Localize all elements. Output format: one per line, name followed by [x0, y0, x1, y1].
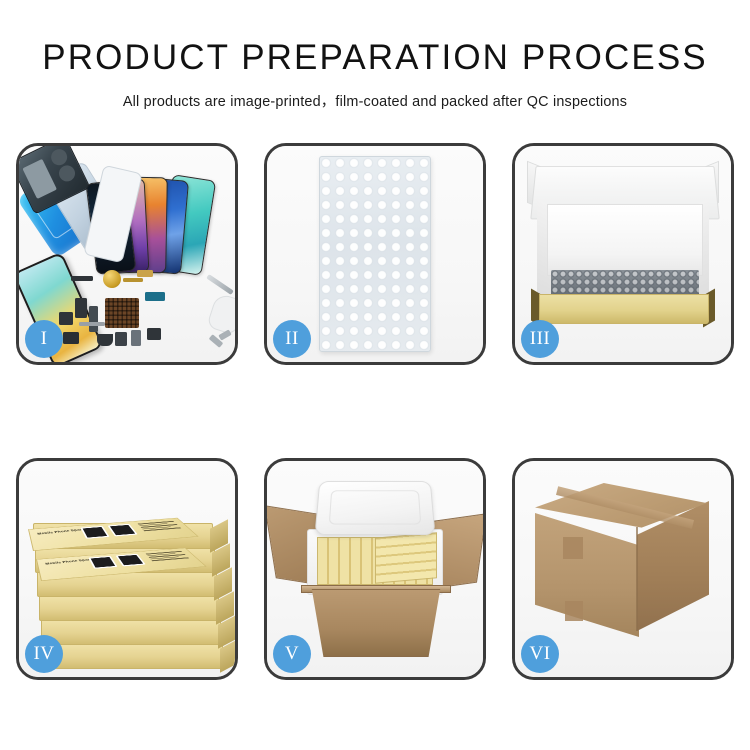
step-badge-4: IV: [25, 635, 63, 673]
part-blue-module: [145, 292, 165, 301]
part-camera-module: [115, 332, 127, 346]
yellow-boxes-inside-b: [375, 532, 437, 583]
part-antenna-cable: [79, 322, 105, 326]
part-vertical-strip: [89, 306, 98, 332]
step-badge-2: II: [273, 320, 311, 358]
process-step-panel-4: Mobile Phone Spare Parts Mobile Phone Sp…: [16, 458, 238, 680]
stacked-box-6: [43, 643, 223, 669]
speaker-component: [103, 270, 121, 288]
box-feature-lines-front: [146, 551, 190, 562]
part-gold-connector: [137, 270, 153, 277]
header: PRODUCT PREPARATION PROCESS All products…: [0, 0, 750, 111]
process-step-panel-6: VI: [512, 458, 734, 680]
box-feature-lines-back: [138, 521, 182, 532]
box-product-photo-b: [116, 554, 146, 567]
technician-hand: [206, 292, 235, 336]
part-bracket: [147, 328, 161, 340]
process-step-grid: I II III: [16, 143, 734, 680]
step-badge-1: I: [25, 320, 63, 358]
step-badge-5: V: [273, 635, 311, 673]
step-badge-6: VI: [521, 635, 559, 673]
carton-corner-seam: [636, 527, 638, 631]
part-speaker-box: [63, 332, 79, 344]
chip-array-component: [105, 298, 139, 328]
process-step-panel-5: V: [264, 458, 486, 680]
bubble-wrap-bag: [319, 156, 431, 352]
part-square-chip: [59, 312, 73, 325]
part-small-block: [75, 298, 87, 318]
part-taptic-engine: [97, 334, 113, 346]
box-product-photo-a: [88, 556, 117, 569]
foam-cooler-lid: [315, 481, 436, 535]
carton-tape-patch-upper: [563, 537, 583, 559]
part-battery-cell: [131, 330, 141, 346]
white-foam-sheet: [547, 204, 703, 276]
carton-front-wall: [303, 589, 449, 657]
carton-tape-patch-lower: [565, 601, 583, 621]
process-step-panel-1: I: [16, 143, 238, 365]
box-front-wall: [539, 294, 709, 324]
page-title: PRODUCT PREPARATION PROCESS: [0, 38, 750, 78]
part-gold-flex: [123, 278, 143, 282]
process-step-panel-3: III: [512, 143, 734, 365]
box-product-photo-d: [108, 524, 138, 537]
stacked-box-4: [39, 595, 219, 621]
tweezer-tool: [206, 274, 234, 295]
step-badge-3: III: [521, 320, 559, 358]
sealed-carton-left-face: [535, 513, 639, 637]
box-product-photo-c: [80, 526, 109, 539]
process-step-panel-2: II: [264, 143, 486, 365]
stacked-box-5: [41, 619, 221, 645]
page-subtitle: All products are image-printed，film-coat…: [0, 90, 750, 111]
part-flex-strip: [71, 276, 93, 281]
